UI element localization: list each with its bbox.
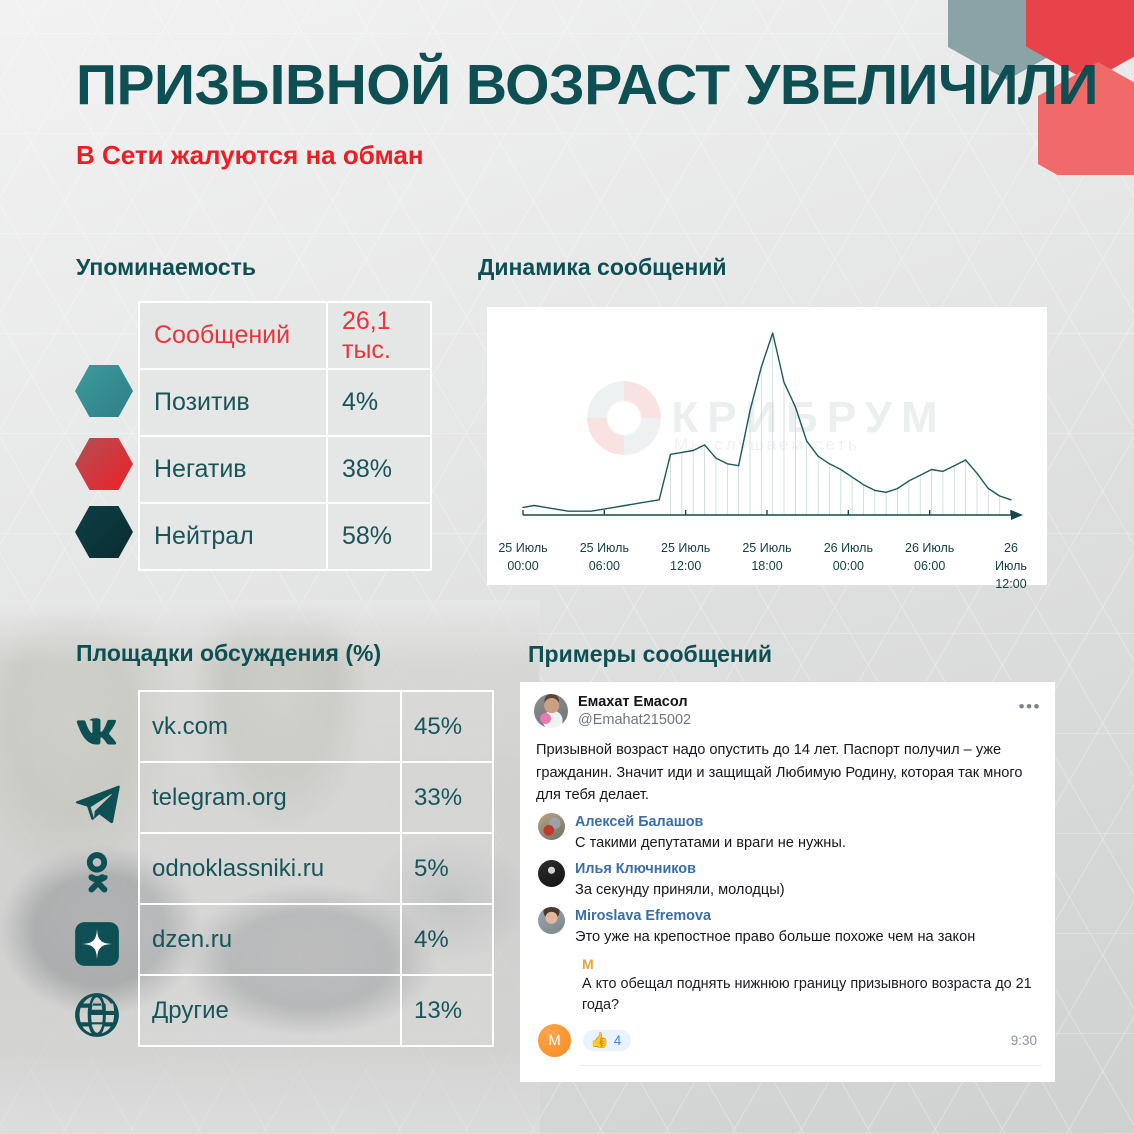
section-title-examples: Примеры сообщений: [528, 641, 772, 668]
message-footer: M 👍 4 9:30: [520, 1016, 1055, 1057]
list-item: Илья Ключников За секунду приняли, молод…: [520, 853, 1055, 900]
message-timestamp: 9:30: [1011, 1033, 1037, 1048]
section-title-platforms: Площадки обсуждения (%): [76, 640, 381, 667]
post-header: Емахат Емасол @Emahat215002 •••: [520, 682, 1055, 729]
reply-text: С такими депутатами и враги не нужны.: [575, 833, 1039, 853]
message-dynamics-line-chart: [487, 307, 1047, 547]
reply-content: Илья Ключников За секунду приняли, молод…: [575, 860, 1039, 900]
platforms-table: vk.com 45% telegram.org 33% odnoklassnik…: [138, 690, 494, 1047]
platform-value-other: 13%: [401, 975, 493, 1046]
mentions-value-messages: 26,1 тыс.: [327, 302, 431, 369]
reply-content: Алексей Балашов С такими депутатами и вр…: [575, 813, 1039, 853]
chart-x-tick-label: 25 Июль12:00: [661, 539, 710, 575]
mentions-label-positive: Позитив: [139, 369, 327, 436]
avatar: [538, 813, 565, 840]
avatar: [538, 860, 565, 887]
avatar: M: [538, 1024, 571, 1057]
divider: [580, 1065, 1041, 1066]
mentions-value-neutral: 58%: [327, 503, 431, 570]
more-options-icon[interactable]: •••: [1019, 694, 1041, 715]
chart-x-tick-label: 25 Июль18:00: [742, 539, 791, 575]
post-author-name: Емахат Емасол: [578, 694, 1019, 712]
post-text: Призывной возраст надо опустить до 14 ле…: [520, 729, 1055, 806]
list-item: Алексей Балашов С такими депутатами и вр…: [520, 806, 1055, 853]
mentions-label-messages: Сообщений: [139, 302, 327, 369]
mentions-value-positive: 4%: [327, 369, 431, 436]
table-row: Позитив 4%: [139, 369, 431, 436]
header: ПРИЗЫВНОЙ ВОЗРАСТ УВЕЛИЧИЛИ В Сети жалую…: [76, 56, 1076, 171]
page-subtitle: В Сети жалуются на обман: [76, 140, 1076, 171]
nested-reply-text: А кто обещал поднять нижнюю границу приз…: [582, 974, 1039, 1017]
nested-reply-author-initial: M: [582, 956, 1039, 973]
chart-x-tick-label: 26 Июль06:00: [905, 539, 954, 575]
table-row: vk.com 45%: [139, 691, 493, 762]
thumbs-up-icon[interactable]: 👍 4: [583, 1030, 631, 1051]
telegram-icon: [72, 777, 122, 827]
vk-icon: [72, 706, 122, 756]
platform-label-odnoklassniki: odnoklassniki.ru: [139, 833, 401, 904]
reply-content: Miroslava Efremova Это уже на крепостное…: [575, 907, 1039, 947]
table-row: Нейтрал 58%: [139, 503, 431, 570]
mentions-label-negative: Негатив: [139, 436, 327, 503]
table-row: telegram.org 33%: [139, 762, 493, 833]
platform-label-telegram: telegram.org: [139, 762, 401, 833]
page-title: ПРИЗЫВНОЙ ВОЗРАСТ УВЕЛИЧИЛИ: [76, 56, 1076, 116]
mentions-label-neutral: Нейтрал: [139, 503, 327, 570]
table-row: Сообщений 26,1 тыс.: [139, 302, 431, 369]
table-row: dzen.ru 4%: [139, 904, 493, 975]
platform-value-odnoklassniki: 5%: [401, 833, 493, 904]
reply-author-name[interactable]: Илья Ключников: [575, 860, 1039, 880]
section-title-mentions: Упоминаемость: [76, 254, 256, 281]
chart-x-tick-label: 26 Июль12:00: [993, 539, 1029, 593]
table-row: odnoklassniki.ru 5%: [139, 833, 493, 904]
reply-author-name[interactable]: Алексей Балашов: [575, 813, 1039, 833]
list-item: Miroslava Efremova Это уже на крепостное…: [520, 900, 1055, 947]
reply-text: Это уже на крепостное право больше похож…: [575, 927, 1039, 947]
reaction-count: 4: [614, 1033, 622, 1048]
mentions-table: Сообщений 26,1 тыс. Позитив 4% Негатив 3…: [138, 301, 432, 571]
platform-label-vk: vk.com: [139, 691, 401, 762]
dynamics-chart-card: КРИБРУМ Мы слушаем сеть 25 Июль00:0025 И…: [487, 307, 1047, 585]
dzen-icon: [72, 919, 122, 969]
message-examples-card: Емахат Емасол @Emahat215002 ••• Призывно…: [520, 682, 1055, 1082]
chart-data-line: [523, 333, 1011, 511]
nested-reply: M А кто обещал поднять нижнюю границу пр…: [520, 947, 1055, 1016]
table-row: Негатив 38%: [139, 436, 431, 503]
chart-gridlines: [523, 333, 1011, 515]
reply-text: За секунду приняли, молодцы): [575, 880, 1039, 900]
chart-axis-arrow: [1011, 510, 1023, 520]
avatar: [538, 907, 565, 934]
table-row: Другие 13%: [139, 975, 493, 1046]
globe-icon: [72, 990, 122, 1040]
post-author-block: Емахат Емасол @Emahat215002: [578, 694, 1019, 729]
post-author-handle: @Emahat215002: [578, 712, 1019, 730]
avatar: [534, 694, 568, 728]
chart-x-tick-labels: 25 Июль00:0025 Июль06:0025 Июль12:0025 И…: [487, 539, 1047, 585]
platform-label-dzen: dzen.ru: [139, 904, 401, 975]
section-title-dynamics: Динамика сообщений: [478, 254, 727, 281]
odnoklassniki-icon: [72, 848, 122, 898]
thumbs-up-glyph: 👍: [590, 1033, 609, 1048]
mentions-value-negative: 38%: [327, 436, 431, 503]
platform-value-vk: 45%: [401, 691, 493, 762]
platform-label-other: Другие: [139, 975, 401, 1046]
platform-value-telegram: 33%: [401, 762, 493, 833]
chart-x-tick-label: 25 Июль00:00: [498, 539, 547, 575]
platform-value-dzen: 4%: [401, 904, 493, 975]
chart-x-tick-label: 26 Июль00:00: [824, 539, 873, 575]
reply-author-name[interactable]: Miroslava Efremova: [575, 907, 1039, 927]
chart-x-tick-label: 25 Июль06:00: [580, 539, 629, 575]
